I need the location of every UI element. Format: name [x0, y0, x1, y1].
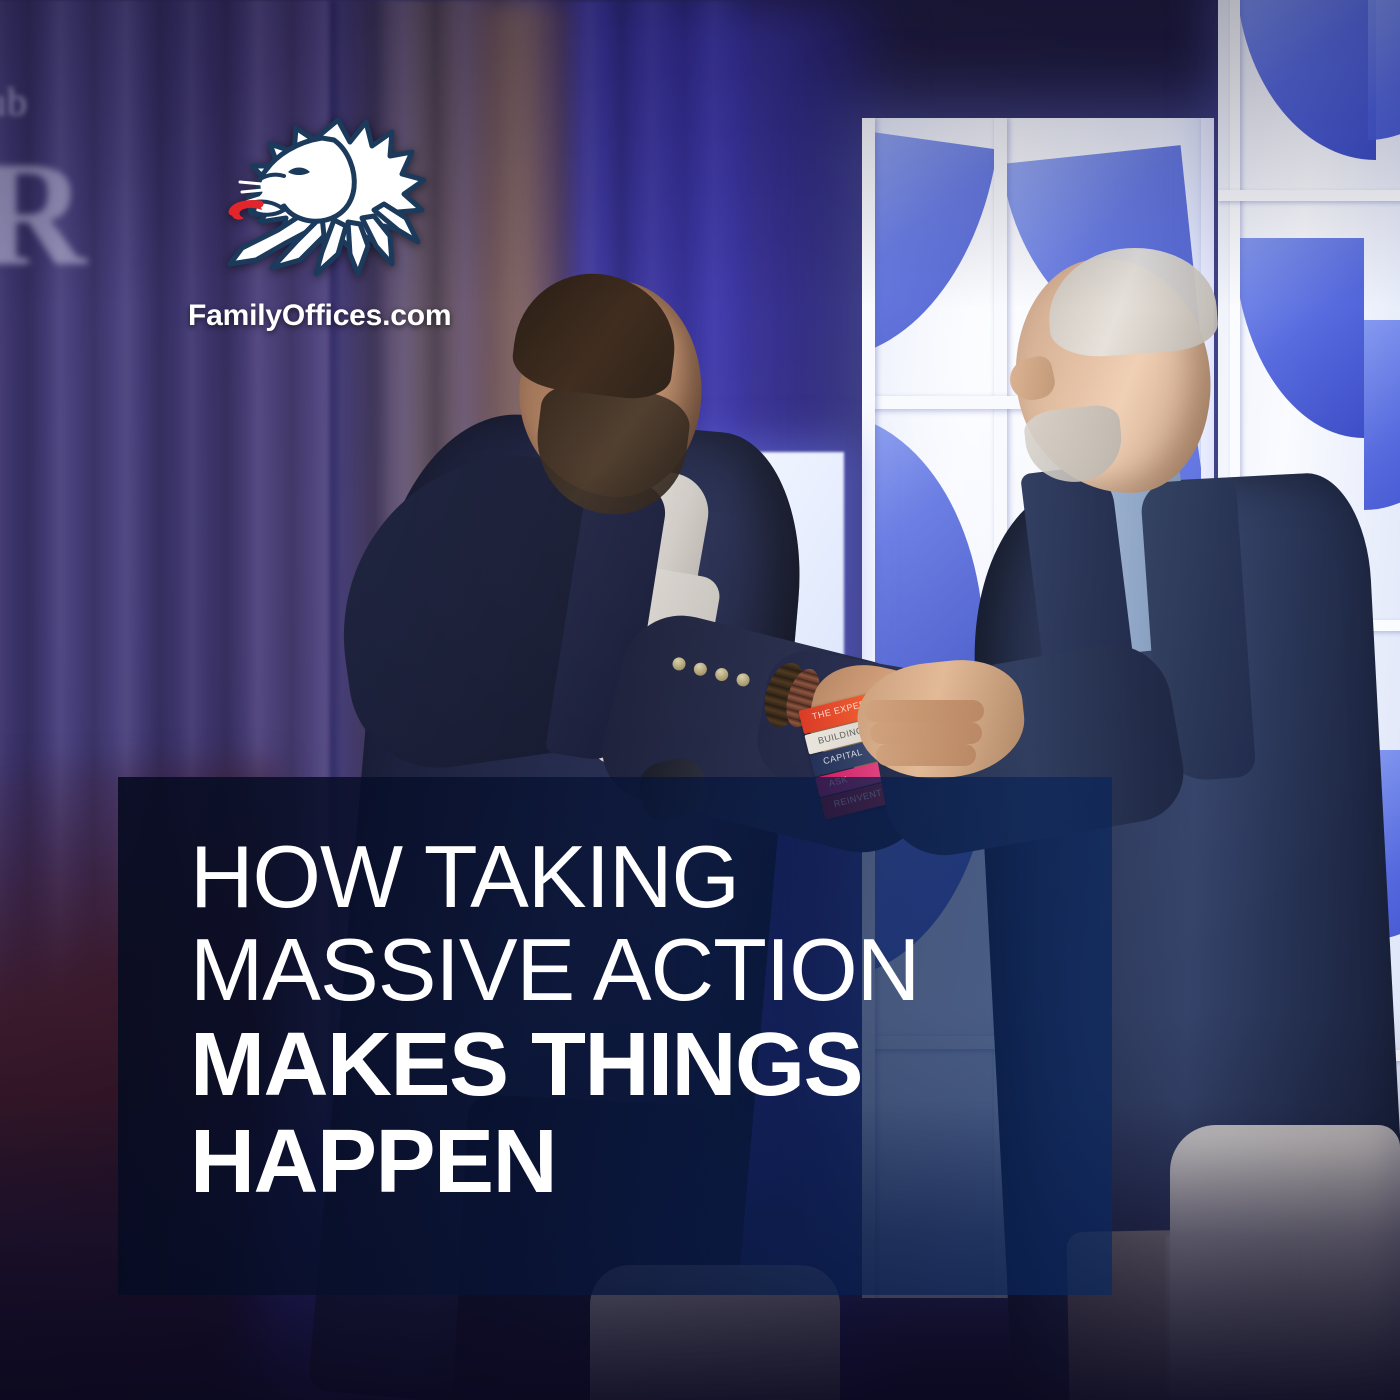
- older-man-hair: [1045, 242, 1220, 359]
- lattice-swoosh-1: [1236, 0, 1376, 160]
- brand-logo-block: FamilyOffices.com: [188, 112, 438, 333]
- social-media-graphic: ub R: [0, 0, 1400, 1400]
- lion-head-icon: [226, 112, 426, 277]
- title-line-3: MAKES THINGS: [190, 1021, 1082, 1110]
- title-line-4: HAPPEN: [190, 1118, 1082, 1207]
- brand-name-label: FamilyOffices.com: [188, 299, 438, 333]
- younger-man-hair: [509, 265, 682, 404]
- lattice-swoosh-2: [1368, 0, 1400, 140]
- title-line-2: MASSIVE ACTION: [190, 926, 1082, 1013]
- older-man-fingers: [858, 700, 1028, 770]
- title-line-1: HOW TAKING: [190, 833, 1082, 920]
- lattice-frame-h1: [1218, 190, 1400, 201]
- title-overlay-panel: HOW TAKING MASSIVE ACTION MAKES THINGS H…: [118, 777, 1112, 1295]
- background-signage-text: ub: [0, 78, 136, 125]
- background-signage-letter: R: [0, 148, 118, 280]
- title-text-container: HOW TAKING MASSIVE ACTION MAKES THINGS H…: [190, 833, 1082, 1207]
